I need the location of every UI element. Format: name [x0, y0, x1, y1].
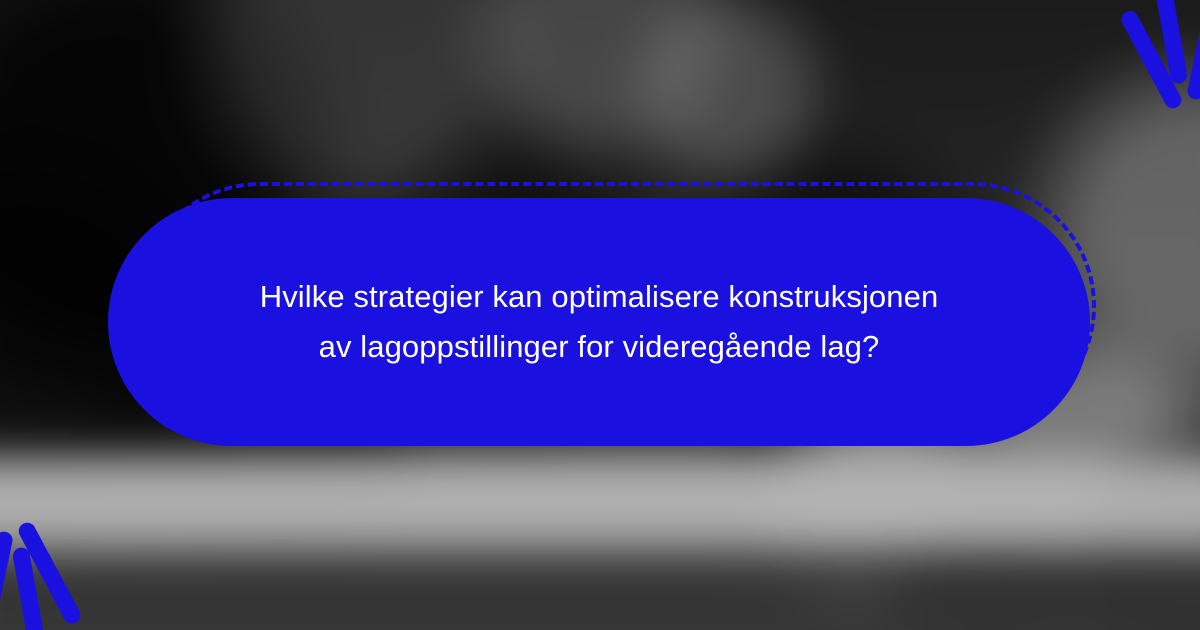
question-card[interactable]: Hvilke strategier kan optimalisere konst… — [108, 198, 1090, 446]
poster-canvas: Hvilke strategier kan optimalisere konst… — [0, 0, 1200, 630]
question-text: Hvilke strategier kan optimalisere konst… — [199, 272, 999, 372]
